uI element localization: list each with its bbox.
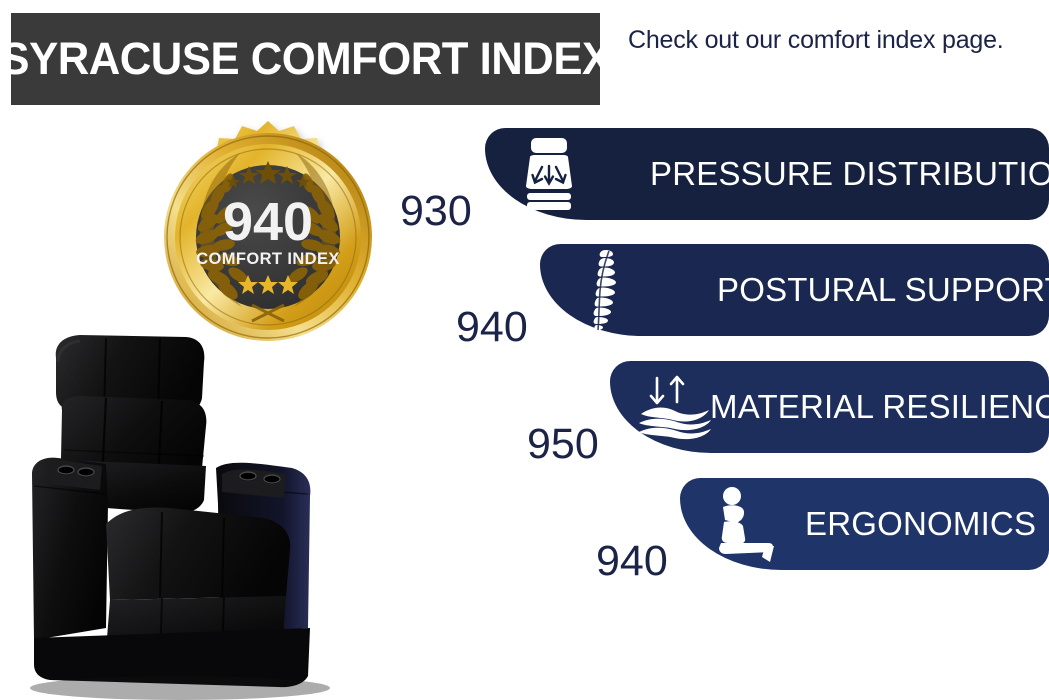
metric-label: PRESSURE DISTRIBUTION bbox=[650, 155, 1049, 193]
metric-label: ERGONOMICS bbox=[805, 505, 1036, 543]
seat-ergonomics-icon bbox=[710, 486, 780, 562]
product-image-recliner bbox=[10, 328, 370, 700]
page-title: SYRACUSE COMFORT INDEX bbox=[0, 33, 610, 85]
subtitle-text: Check out our comfort index page. bbox=[628, 26, 1028, 55]
metric-score: 940 bbox=[596, 540, 668, 583]
metric-row-postural-support: POSTURAL SUPPORT 940 bbox=[540, 244, 1049, 336]
metric-score: 940 bbox=[456, 306, 528, 349]
metric-score: 950 bbox=[527, 423, 599, 466]
metric-row-pressure-distribution: PRESSURE DISTRIBUTION 930 bbox=[485, 128, 1049, 220]
badge-score: 940 bbox=[223, 192, 313, 252]
metric-row-ergonomics: ERGONOMICS 940 bbox=[680, 478, 1049, 570]
comfort-index-badge: 940 COMFORT INDEX bbox=[148, 117, 388, 357]
metric-label: MATERIAL RESILIENCY bbox=[710, 388, 1049, 426]
title-banner: SYRACUSE COMFORT INDEX bbox=[11, 13, 600, 105]
metric-label: POSTURAL SUPPORT bbox=[717, 271, 1049, 309]
comfort-index-infographic: SYRACUSE COMFORT INDEX Check out our com… bbox=[0, 0, 1049, 700]
spine-icon bbox=[580, 248, 626, 332]
metric-score: 930 bbox=[400, 190, 472, 233]
badge-caption: COMFORT INDEX bbox=[196, 250, 340, 268]
metric-row-material-resiliency: MATERIAL RESILIENCY 950 bbox=[610, 361, 1049, 453]
cushion-pressure-icon bbox=[518, 136, 580, 212]
